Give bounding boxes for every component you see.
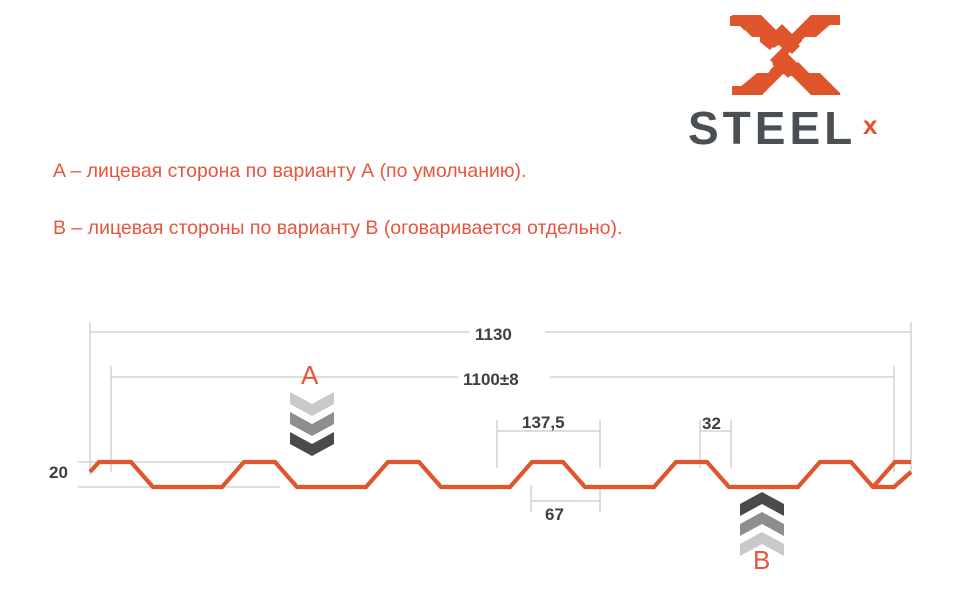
profile-technical-drawing: 1130 1100±8 137,5 32 67 20 A B: [0, 300, 970, 590]
corrugated-profile-path: [90, 462, 911, 487]
dimension-label-effective-width: 1100±8: [463, 370, 519, 390]
wordmark-superscript: x: [863, 112, 877, 138]
screenshot-root: STEEL x A – лицевая сторона по варианту …: [0, 0, 970, 597]
dimension-label-valley-flat: 67: [545, 505, 564, 525]
note-variant-a: A – лицевая сторона по варианту А (по ум…: [53, 160, 526, 183]
dimension-label-overall-width: 1130: [475, 325, 512, 345]
wordmark-text: STEEL: [688, 106, 856, 150]
dimension-label-profile-height: 20: [49, 463, 68, 483]
steelx-angular-x-icon: [730, 12, 842, 98]
brand-logo: STEEL x: [688, 12, 900, 148]
side-a-marker: [290, 392, 334, 456]
dimension-label-crest-flat: 32: [702, 414, 721, 434]
chevron-down-icon-1: [290, 392, 334, 416]
dimension-label-pitch: 137,5: [522, 413, 565, 433]
side-b-letter: B: [753, 545, 770, 576]
side-a-letter: A: [301, 360, 318, 391]
note-variant-b: B – лицевая стороны по варианту B (огова…: [53, 217, 622, 240]
brand-wordmark: STEEL x: [688, 106, 900, 150]
